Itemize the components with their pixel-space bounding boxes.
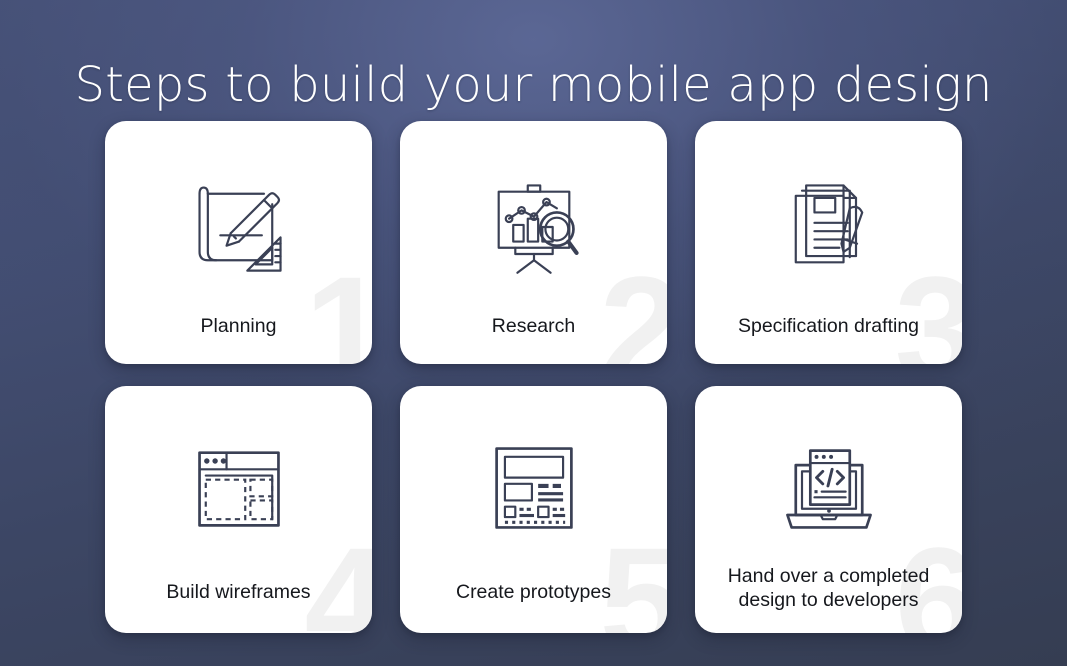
step-number-watermark: 5 [600,525,667,633]
steps-grid: 1 [105,121,967,633]
step-card-planning[interactable]: 1 [105,121,372,364]
infographic-slide: Steps to build your mobile app design 1 [0,0,1067,666]
browser-wireframe-icon [185,438,293,538]
step-label: Planning [105,314,372,338]
laptop-code-icon [775,438,883,538]
step-label: Hand over a completed design to develope… [695,564,962,612]
step-number-watermark: 2 [600,254,667,364]
page-title: Steps to build your mobile app design [74,58,992,113]
step-label: Research [400,314,667,338]
step-card-create-prototypes[interactable]: 5 [400,386,667,633]
step-card-research[interactable]: 2 [400,121,667,364]
layout-mockup-icon [480,438,588,538]
step-label: Specification drafting [695,314,962,338]
step-card-build-wireframes[interactable]: 4 Build [105,386,372,633]
step-number-watermark: 1 [305,254,372,364]
step-card-specification-drafting[interactable]: 3 [695,121,962,364]
step-number-watermark: 3 [895,254,962,364]
step-label: Build wireframes [105,580,372,604]
step-label: Create prototypes [400,580,667,604]
presentation-chart-magnifier-icon [480,177,588,277]
documents-pen-icon [775,177,883,277]
step-number-watermark: 4 [305,525,372,633]
step-card-hand-over-design[interactable]: 6 [695,386,962,633]
blueprint-pencil-ruler-icon [185,177,293,277]
